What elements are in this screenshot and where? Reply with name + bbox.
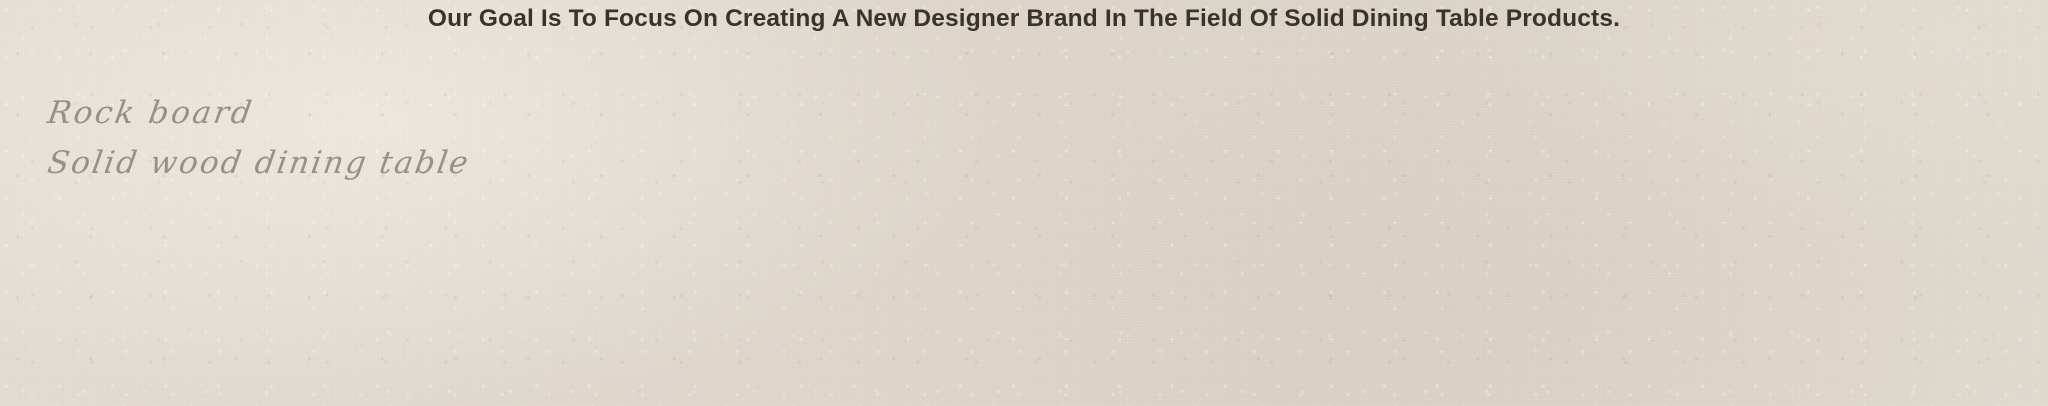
script-heading-line-1: Rock board xyxy=(44,88,474,138)
script-heading-line-2: Solid wood dining table xyxy=(44,138,474,188)
script-heading-block: Rock board Solid wood dining table xyxy=(48,88,470,188)
vignette-overlay xyxy=(0,0,2048,406)
paper-texture-overlay xyxy=(0,0,2048,406)
product-banner: Our Goal Is To Focus On Creating A New D… xyxy=(0,0,2048,406)
banner-headline: Our Goal Is To Focus On Creating A New D… xyxy=(0,5,2048,33)
